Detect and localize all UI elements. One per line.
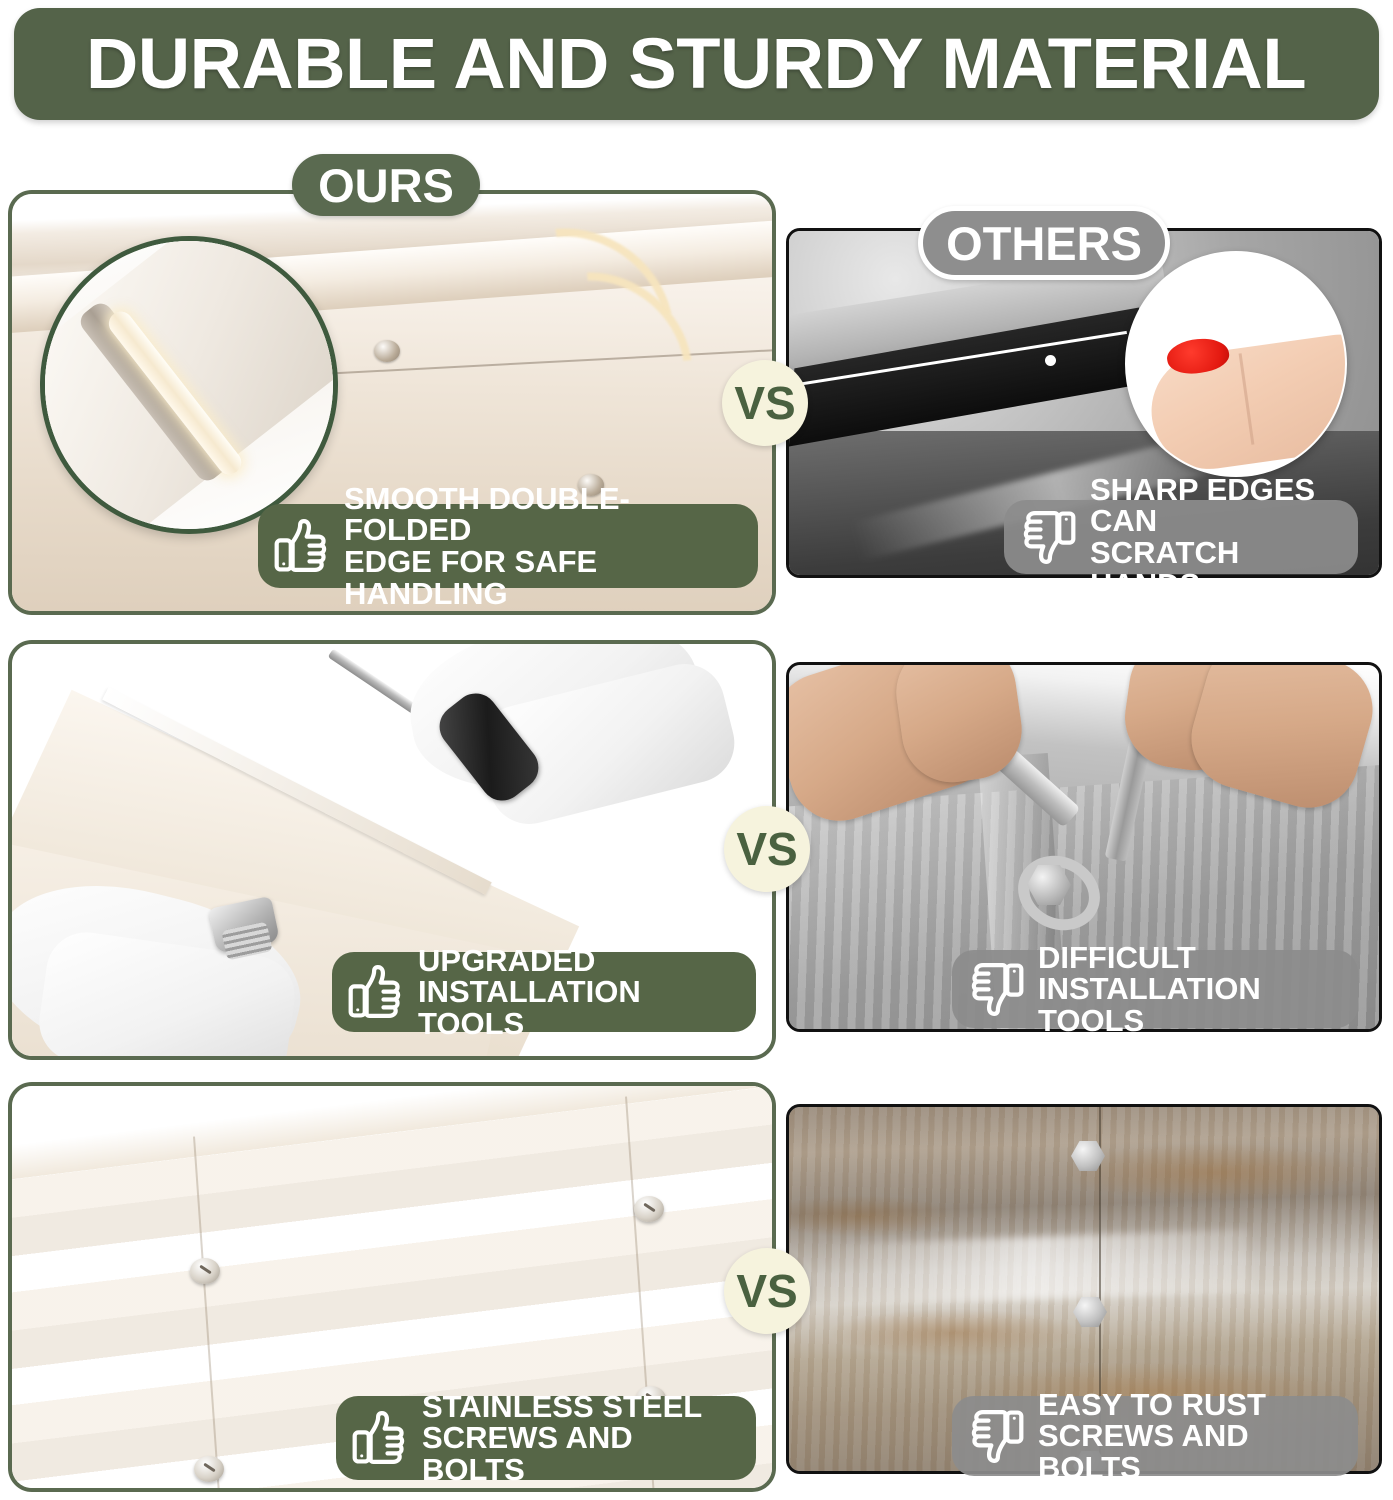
thumbs-down-icon bbox=[966, 1406, 1026, 1466]
ours-badge-label: OURS bbox=[318, 158, 454, 213]
caption-others-hardware: EASY TO RUST SCREWS AND BOLTS bbox=[952, 1396, 1358, 1476]
others-badge-label: OTHERS bbox=[946, 216, 1142, 271]
vs-label: VS bbox=[736, 1264, 797, 1318]
title-banner: DURABLE AND STURDY MATERIAL bbox=[14, 8, 1379, 120]
caption-text: SMOOTH DOUBLE-FOLDED EDGE FOR SAFE HANDL… bbox=[344, 483, 732, 609]
vs-badge: VS bbox=[724, 806, 810, 892]
caption-text: SHARP EDGES CAN SCRATCH HANDS bbox=[1090, 474, 1332, 600]
vs-label: VS bbox=[734, 376, 795, 430]
detail-zoom-circle-cut-finger bbox=[1125, 251, 1347, 477]
vs-badge: VS bbox=[722, 360, 808, 446]
vs-label: VS bbox=[736, 822, 797, 876]
caption-ours-tools: UPGRADED INSTALLATION TOOLS bbox=[332, 952, 756, 1032]
caption-others-tools: DIFFICULT INSTALLATION TOOLS bbox=[952, 950, 1358, 1028]
screw-icon bbox=[194, 1456, 224, 1482]
thumbs-up-icon bbox=[346, 962, 406, 1022]
ours-badge: OURS bbox=[292, 154, 480, 216]
caption-text: UPGRADED INSTALLATION TOOLS bbox=[418, 945, 730, 1040]
bolt-icon bbox=[374, 340, 400, 362]
thumbs-down-icon bbox=[966, 959, 1026, 1019]
caption-text: STAINLESS STEEL SCREWS AND BOLTS bbox=[422, 1391, 730, 1486]
thumbs-up-icon bbox=[272, 516, 332, 576]
page-title: DURABLE AND STURDY MATERIAL bbox=[86, 24, 1306, 105]
caption-ours-edge: SMOOTH DOUBLE-FOLDED EDGE FOR SAFE HANDL… bbox=[258, 504, 758, 588]
screw-icon bbox=[634, 1196, 664, 1222]
caption-others-edge: SHARP EDGES CAN SCRATCH HANDS bbox=[1004, 500, 1358, 574]
thumbs-down-icon bbox=[1018, 507, 1078, 567]
caption-text: DIFFICULT INSTALLATION TOOLS bbox=[1038, 942, 1332, 1037]
thumbs-up-icon bbox=[350, 1408, 410, 1468]
caption-text: EASY TO RUST SCREWS AND BOLTS bbox=[1038, 1389, 1332, 1484]
screw-icon bbox=[190, 1258, 220, 1284]
caption-ours-hardware: STAINLESS STEEL SCREWS AND BOLTS bbox=[336, 1396, 756, 1480]
vs-badge: VS bbox=[724, 1248, 810, 1334]
detail-zoom-circle-folded-edge bbox=[40, 236, 338, 534]
others-badge: OTHERS bbox=[918, 206, 1170, 280]
